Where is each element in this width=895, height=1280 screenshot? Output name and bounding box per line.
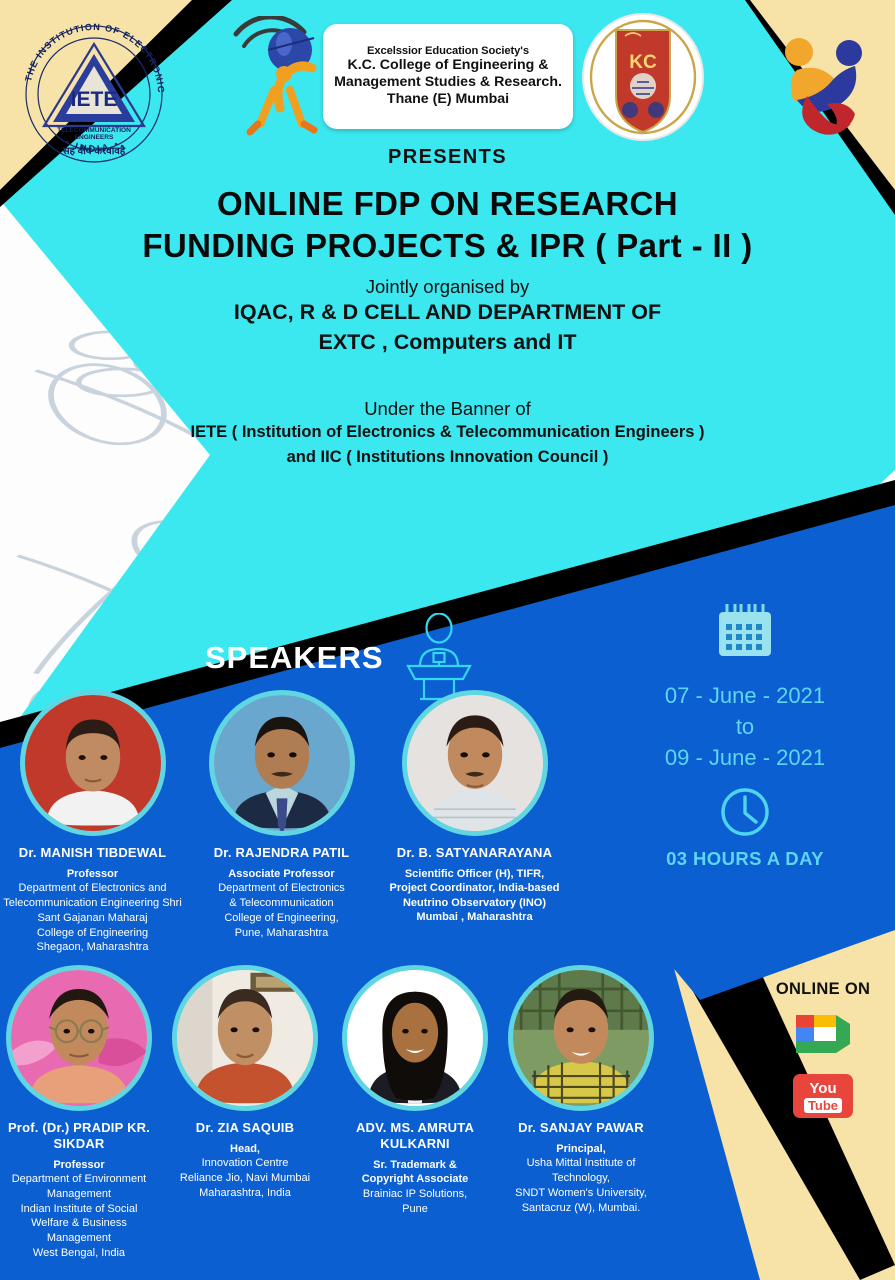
speaker-name: Prof. (Dr.) PRADIP KR. SIKDAR: [0, 1120, 158, 1152]
speaker-affiliation: Usha Mittal Institute of Technology, SND…: [502, 1156, 660, 1215]
youtube-icon: You Tube: [792, 1073, 854, 1119]
speaker-card[interactable]: Dr. RAJENDRA PATIL Associate Professor D…: [189, 690, 374, 955]
event-title-line-1: ONLINE FDP ON RESEARCH: [0, 183, 895, 225]
date-end: 09 - June - 2021: [595, 742, 895, 773]
svg-text:IETE: IETE: [71, 88, 118, 111]
speaker-role: Professor: [0, 867, 185, 882]
svg-text:ENGINEERS: ENGINEERS: [75, 134, 114, 141]
speaker-role: Head,: [166, 1142, 324, 1157]
speaker-name: Dr. ZIA SAQUIB: [166, 1120, 324, 1136]
organiser-line-1: IQAC, R & D CELL AND DEPARTMENT OF: [0, 298, 895, 328]
college-name-plate: Excelssior Education Society's K.C. Coll…: [323, 24, 573, 129]
college-line-2: Management Studies & Research.: [334, 74, 562, 91]
calendar-icon: [715, 600, 775, 658]
speaker-name: Dr. B. SATYANARAYANA: [382, 845, 567, 861]
title-block: ONLINE FDP ON RESEARCH FUNDING PROJECTS …: [0, 183, 895, 358]
avatar: [342, 965, 488, 1111]
speakers-title: SPEAKERS: [205, 640, 384, 676]
duration-label: 03 HOURS A DAY: [595, 848, 895, 870]
avatar: [172, 965, 318, 1111]
online-platforms: ONLINE ON You Tube: [758, 980, 888, 1119]
svg-text:KC: KC: [629, 52, 657, 73]
speaker-card[interactable]: Dr. B. SATYANARAYANA Scientific Officer …: [382, 690, 567, 955]
speaker-role: Sr. Trademark & Copyright Associate: [336, 1158, 494, 1187]
speaker-affiliation: Innovation Centre Reliance Jio, Navi Mum…: [166, 1156, 324, 1200]
college-line-1: K.C. College of Engineering &: [347, 57, 548, 74]
svg-text:Tube: Tube: [808, 1098, 838, 1113]
college-header: Excelssior Education Society's K.C. Coll…: [228, 10, 698, 145]
speaker-role: Professor: [0, 1158, 158, 1173]
svg-text:TELECOMMUNICATION: TELECOMMUNICATION: [57, 127, 131, 134]
speaker-name: ADV. MS. AMRUTA KULKARNI: [336, 1120, 494, 1152]
speaker-affiliation: Department of Electronics and Telecommun…: [0, 881, 185, 955]
avatar: [6, 965, 152, 1111]
avatar: [508, 965, 654, 1111]
speaker-affiliation: Brainiac IP Solutions, Pune: [336, 1187, 494, 1216]
event-poster: THE INSTITUTION OF ELECTRONICS AND TELEC…: [0, 0, 895, 1280]
avatar: [209, 690, 355, 836]
college-line-3: Thane (E) Mumbai: [387, 91, 509, 108]
speakers-grid: Dr. MANISH TIBDEWAL Professor Department…: [0, 690, 660, 1261]
speaker-name: Dr. MANISH TIBDEWAL: [0, 845, 185, 861]
banner-label: Under the Banner of: [0, 398, 895, 420]
avatar: [20, 690, 166, 836]
speaker-affiliation: Department of Environment Management Ind…: [0, 1172, 158, 1260]
clock-icon: [719, 786, 771, 838]
iic-logo: [767, 26, 877, 146]
date-range: 07 - June - 2021 to 09 - June - 2021: [595, 680, 895, 774]
google-meet-icon: [792, 1009, 854, 1059]
online-on-label: ONLINE ON: [758, 980, 888, 999]
speaker-role: Associate Professor: [189, 867, 374, 882]
speaker-card[interactable]: Dr. SANJAY PAWAR Principal, Usha Mittal …: [502, 965, 660, 1261]
speaker-role: Principal,: [502, 1142, 660, 1157]
speaker-affiliation: Department of Electronics & Telecommunic…: [189, 881, 374, 940]
speaker-card[interactable]: ADV. MS. AMRUTA KULKARNI Sr. Trademark &…: [336, 965, 494, 1261]
speakers-row-2: Prof. (Dr.) PRADIP KR. SIKDAR Professor …: [0, 965, 660, 1261]
banner-line-1: IETE ( Institution of Electronics & Tele…: [0, 420, 895, 445]
date-start: 07 - June - 2021: [595, 680, 895, 711]
society-name: Excelssior Education Society's: [367, 45, 529, 57]
jointly-organised-label: Jointly organised by: [0, 276, 895, 298]
schedule-card: 07 - June - 2021 to 09 - June - 2021 03 …: [595, 600, 895, 870]
college-crest-icon: KC: [580, 12, 706, 142]
speakers-row-1: Dr. MANISH TIBDEWAL Professor Department…: [0, 690, 660, 955]
speaker-card[interactable]: Dr. MANISH TIBDEWAL Professor Department…: [0, 690, 185, 955]
speaker-card[interactable]: Prof. (Dr.) PRADIP KR. SIKDAR Professor …: [0, 965, 158, 1261]
svg-text:You: You: [809, 1080, 836, 1097]
speaker-name: Dr. SANJAY PAWAR: [502, 1120, 660, 1136]
speaker-card[interactable]: Dr. ZIA SAQUIB Head, Innovation Centre R…: [166, 965, 324, 1261]
speaker-role: Scientific Officer (H), TIFR, Project Co…: [382, 867, 567, 925]
banner-block: Under the Banner of IETE ( Institution o…: [0, 398, 895, 470]
organiser-line-2: EXTC , Computers and IT: [0, 328, 895, 358]
date-connector: to: [595, 711, 895, 742]
presents-label: PRESENTS: [0, 146, 895, 169]
event-title-line-2: FUNDING PROJECTS & IPR ( Part - II ): [0, 225, 895, 267]
banner-line-2: and IIC ( Institutions Innovation Counci…: [0, 445, 895, 470]
avatar: [402, 690, 548, 836]
college-globe-emblem: [228, 16, 336, 138]
speaker-name: Dr. RAJENDRA PATIL: [189, 845, 374, 861]
